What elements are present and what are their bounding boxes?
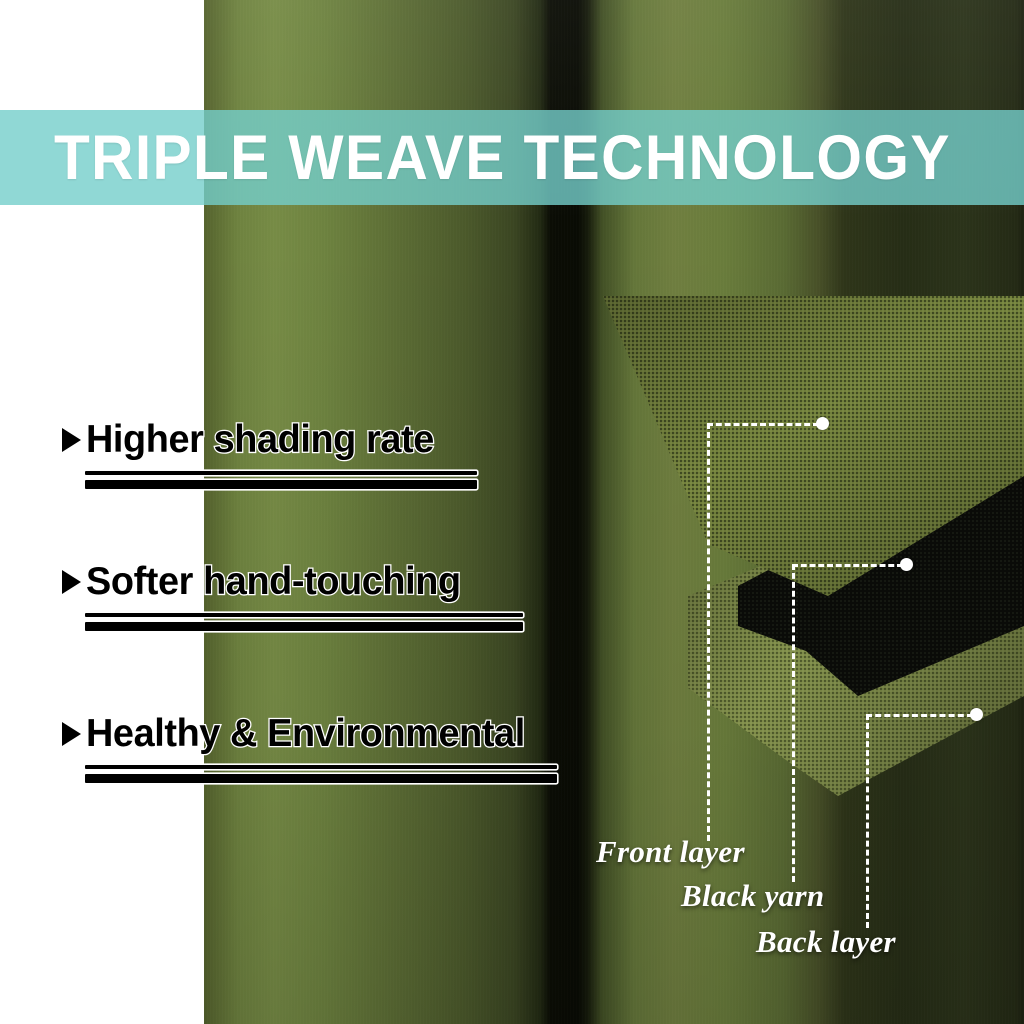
feature-item-healthy-environmental: Healthy & Environmental [62,712,557,783]
feature-item-softer-hand-touching: Softer hand-touching [62,560,523,631]
feature-underline [85,471,477,489]
underline-thick-rule [85,480,477,489]
front-layer-sheet [588,296,1024,856]
underline-thin-rule [85,613,523,617]
feature-label: Higher shading rate [86,418,434,462]
underline-thin-rule [85,471,477,475]
feature-underline [85,613,523,631]
triangle-bullet-icon [62,428,81,452]
product-feature-graphic: TRIPLE WEAVE TECHNOLOGY Higher shading r… [0,0,1024,1024]
underline-thick-rule [85,622,523,631]
triangle-bullet-icon [62,722,81,746]
triple-weave-layer-diagram [588,296,1024,856]
feature-underline [85,765,557,783]
triangle-bullet-icon [62,570,81,594]
underline-thin-rule [85,765,557,769]
underline-thick-rule [85,774,557,783]
feature-item-higher-shading-rate: Higher shading rate [62,418,477,489]
feature-label: Healthy & Environmental [86,712,525,756]
feature-label: Softer hand-touching [86,560,461,604]
